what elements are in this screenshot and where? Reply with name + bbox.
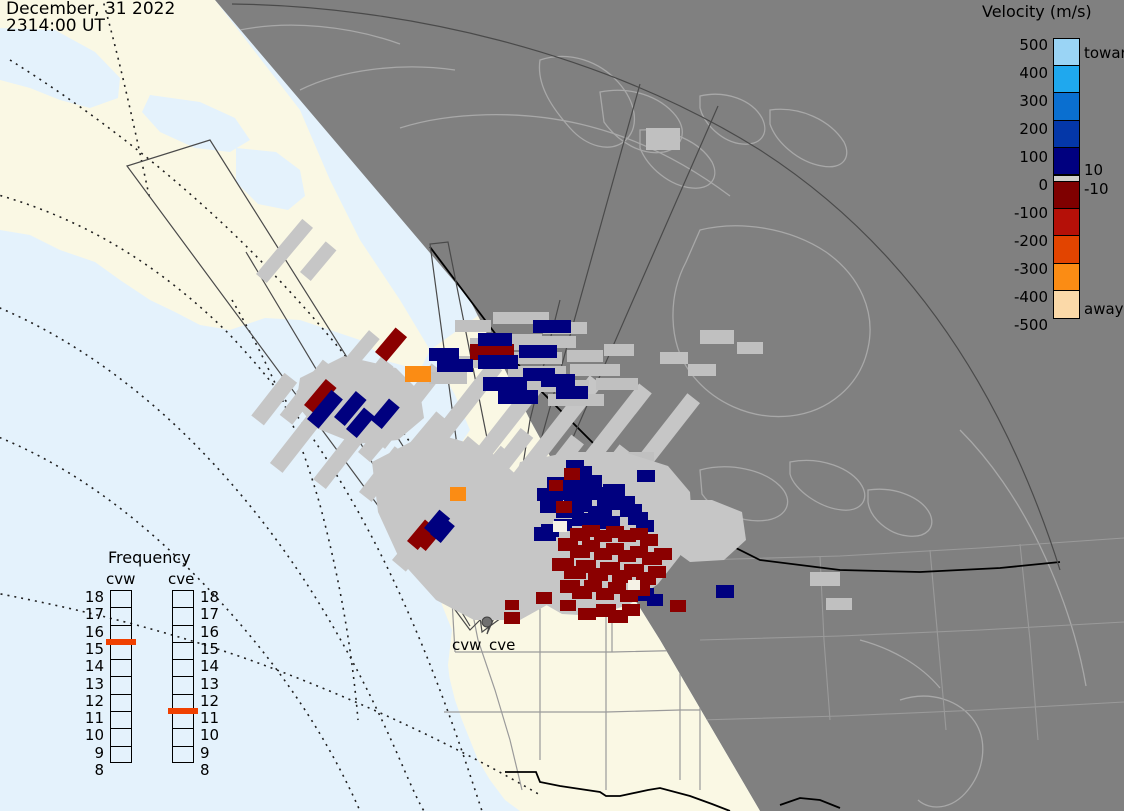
frequency-tick-cve-17: 17 bbox=[200, 607, 219, 622]
frequency-tick-cvw-8: 8 bbox=[94, 763, 104, 778]
frequency-tick-cve-10: 10 bbox=[200, 728, 219, 743]
frequency-segment bbox=[111, 677, 131, 694]
frequency-column-label-cvw: cvw bbox=[106, 570, 135, 588]
frequency-ticks-cvw: 18171615141312111098 bbox=[84, 584, 106, 770]
colorbar-label-toward: toward bbox=[1084, 46, 1124, 61]
frequency-segment bbox=[173, 677, 193, 694]
frequency-tick-cvw-15: 15 bbox=[85, 642, 104, 657]
frequency-ticks-cve: 18171615141312111098 bbox=[198, 584, 220, 770]
colorbar-band-away-2 bbox=[1054, 236, 1079, 263]
frequency-tick-cve-13: 13 bbox=[200, 677, 219, 692]
frequency-tick-cvw-13: 13 bbox=[85, 677, 104, 692]
frequency-segment bbox=[111, 747, 131, 764]
frequency-tick-cve-14: 14 bbox=[200, 659, 219, 674]
superdarn-velocity-map: December, 31 2022 2314:00 UT Velocity (m… bbox=[0, 0, 1124, 811]
frequency-tick-cve-16: 16 bbox=[200, 625, 219, 640]
frequency-segment bbox=[111, 591, 131, 608]
frequency-title: Frequency bbox=[108, 548, 191, 567]
colorbar-tick-neg400: -400 bbox=[1014, 290, 1048, 305]
frequency-tick-cvw-11: 11 bbox=[85, 711, 104, 726]
frequency-segment bbox=[111, 729, 131, 746]
colorbar-band-away-0 bbox=[1054, 182, 1079, 209]
colorbar-band-toward-3 bbox=[1054, 121, 1079, 148]
frequency-segment bbox=[111, 643, 131, 660]
colorbar-band-toward-0 bbox=[1054, 39, 1079, 66]
colorbar-title: Velocity (m/s) bbox=[982, 2, 1092, 21]
frequency-tick-cvw-18: 18 bbox=[85, 590, 104, 605]
frequency-marker-cve bbox=[168, 708, 198, 714]
colorbar-tick-300: 300 bbox=[1019, 94, 1048, 109]
colorbar-zero-gap bbox=[1054, 175, 1079, 182]
frequency-segment bbox=[173, 626, 193, 643]
colorbar-tick-500: 500 bbox=[1019, 38, 1048, 53]
colorbar-tick-0: 0 bbox=[1038, 178, 1048, 193]
frequency-tick-cve-18: 18 bbox=[200, 590, 219, 605]
frequency-tick-cve-11: 11 bbox=[200, 711, 219, 726]
frequency-tick-cvw-12: 12 bbox=[85, 694, 104, 709]
frequency-segment bbox=[111, 695, 131, 712]
colorbar-band-away-3 bbox=[1054, 264, 1079, 291]
colorbar-label-plus-ten: 10 bbox=[1084, 163, 1103, 178]
colorbar-tick-100: 100 bbox=[1019, 150, 1048, 165]
frequency-segment bbox=[173, 747, 193, 764]
title-time: 2314:00 UT bbox=[6, 18, 175, 35]
frequency-panel: Frequency cvw18171615141312111098cve1817… bbox=[84, 548, 244, 788]
title-block: December, 31 2022 2314:00 UT bbox=[6, 1, 175, 35]
frequency-tick-cvw-17: 17 bbox=[85, 607, 104, 622]
colorbar-tick-neg200: -200 bbox=[1014, 234, 1048, 249]
frequency-tick-cvw-16: 16 bbox=[85, 625, 104, 640]
frequency-column-label-cve: cve bbox=[168, 570, 194, 588]
colorbar-strip bbox=[1053, 38, 1080, 319]
frequency-bar-cvw bbox=[110, 590, 132, 763]
frequency-segment bbox=[173, 660, 193, 677]
colorbar-band-away-1 bbox=[1054, 209, 1079, 236]
frequency-segment bbox=[111, 608, 131, 625]
frequency-tick-cvw-14: 14 bbox=[85, 659, 104, 674]
colorbar-tick-200: 200 bbox=[1019, 122, 1048, 137]
frequency-segment bbox=[173, 591, 193, 608]
frequency-tick-cvw-9: 9 bbox=[94, 746, 104, 761]
frequency-tick-cve-8: 8 bbox=[200, 763, 210, 778]
radar-site-label-cvw: cvw bbox=[452, 636, 481, 654]
colorbar-band-toward-1 bbox=[1054, 66, 1079, 93]
colorbar-label-away: away bbox=[1084, 302, 1124, 317]
velocity-colorbar-panel: Velocity (m/s) 5004003002001000-100-200-… bbox=[980, 0, 1124, 330]
radar-site-label-cve: cve bbox=[489, 636, 515, 654]
frequency-segment bbox=[173, 729, 193, 746]
frequency-bar-cve bbox=[172, 590, 194, 763]
frequency-segment bbox=[111, 660, 131, 677]
colorbar-tick-400: 400 bbox=[1019, 66, 1048, 81]
colorbar-band-toward-4 bbox=[1054, 148, 1079, 175]
frequency-segment bbox=[173, 608, 193, 625]
frequency-tick-cve-9: 9 bbox=[200, 746, 210, 761]
colorbar-band-toward-2 bbox=[1054, 93, 1079, 120]
colorbar-band-away-4 bbox=[1054, 291, 1079, 318]
radar-site-marker bbox=[482, 617, 492, 627]
frequency-tick-cvw-10: 10 bbox=[85, 728, 104, 743]
frequency-marker-cvw bbox=[106, 639, 136, 645]
colorbar-tick-labels: 5004003002001000-100-200-300-400-500 bbox=[980, 30, 1048, 320]
colorbar-tick-neg100: -100 bbox=[1014, 206, 1048, 221]
frequency-segment bbox=[173, 712, 193, 729]
frequency-segment bbox=[111, 712, 131, 729]
colorbar-tick-neg500: -500 bbox=[1014, 318, 1048, 333]
colorbar-label-minus-ten: -10 bbox=[1084, 182, 1109, 197]
colorbar-tick-neg300: -300 bbox=[1014, 262, 1048, 277]
frequency-tick-cve-15: 15 bbox=[200, 642, 219, 657]
frequency-segment bbox=[173, 643, 193, 660]
frequency-tick-cve-12: 12 bbox=[200, 694, 219, 709]
